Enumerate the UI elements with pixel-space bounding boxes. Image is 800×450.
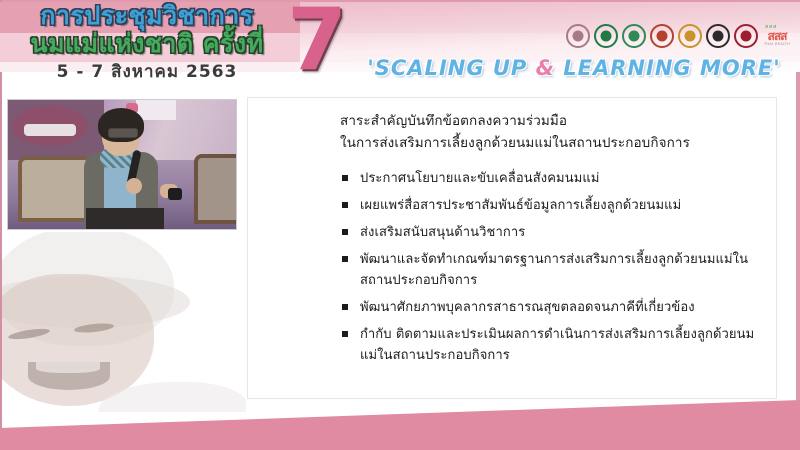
video-speaker-hand-left (126, 178, 142, 194)
logo-core (713, 31, 724, 42)
royal-crest-logo (678, 24, 702, 48)
bullet-square-icon (342, 175, 348, 181)
thaihealth-logo: สสส สสส THAI HEALTH (762, 23, 792, 49)
bullet-item: ประกาศนโยบายและขับเคลื่อนสังคมนมแม่ (340, 168, 760, 189)
bullet-square-icon (342, 304, 348, 310)
bullet-square-icon (342, 331, 348, 337)
video-speaker-clicker (168, 188, 182, 200)
video-chair-right (194, 154, 236, 224)
video-speaker-lap (86, 208, 164, 229)
thaihealth-logo-text: สสส (762, 30, 792, 42)
ministry-health-logo (594, 24, 618, 48)
bullet-item: กำกับ ติดตามและประเมินผลการดำเนินการส่งเ… (340, 324, 760, 366)
logo-core (601, 31, 612, 42)
presentation-slide: 7 การประชุมวิชาการ นมแม่แห่งชาติ ครั้งที… (0, 0, 800, 450)
content-heading-line1: สาระสำคัญบันทึกข้อตกลงความร่วมมือ (340, 110, 760, 132)
bullet-text: พัฒนาและจัดทำเกณฑ์มาตรฐานการส่งเสริมการเ… (360, 252, 748, 288)
thaihealth-logo-mark: สสส (765, 23, 777, 31)
conference-title-block: การประชุมวิชาการ นมแม่แห่งชาติ ครั้งที่ … (16, 2, 278, 83)
red-seal-logo (734, 24, 758, 48)
bullet-square-icon (342, 256, 348, 262)
conference-title-line2: นมแม่แห่งชาติ ครั้งที่ (16, 30, 278, 58)
thaihealth-logo-subtext: THAI HEALTH (762, 42, 792, 46)
video-backdrop-panel (136, 100, 176, 120)
video-chair-left (18, 156, 92, 222)
logo-core (573, 31, 584, 42)
bullet-square-icon (342, 202, 348, 208)
bullet-text: เผยแพร่สื่อสารประชาสัมพันธ์ข้อมูลการเลี้… (360, 198, 681, 213)
partner-logo-strip: สสส สสส THAI HEALTH (566, 20, 792, 52)
conference-tagline: 'SCALING UP & LEARNING MORE' (358, 56, 790, 80)
content-heading-line2: ในการส่งเสริมการเลี้ยงลูกด้วยนมแม่ในสถาน… (340, 132, 760, 154)
health-department-logo (622, 24, 646, 48)
watermark-teeth (36, 362, 100, 373)
bullet-text: พัฒนาศักยภาพบุคลากรสาธารณสุขตลอดจนภาคีที… (360, 300, 695, 315)
tagline-suffix: LEARNING MORE' (555, 56, 781, 80)
bullet-square-icon (342, 229, 348, 235)
logo-core (629, 31, 640, 42)
bullet-text: กำกับ ติดตามและประเมินผลการดำเนินการส่งเ… (360, 327, 754, 363)
bullet-item: ส่งเสริมสนับสนุนด้านวิชาการ (340, 222, 760, 243)
bullet-item: เผยแพร่สื่อสารประชาสัมพันธ์ข้อมูลการเลี้… (340, 195, 760, 216)
tagline-ampersand: & (536, 56, 555, 80)
conference-date: 5 - 7 สิงหาคม 2563 (16, 61, 278, 83)
bullet-item: พัฒนาศักยภาพบุคลากรสาธารณสุขตลอดจนภาคีที… (340, 297, 760, 318)
content-bullet-list: ประกาศนโยบายและขับเคลื่อนสังคมนมแม่ เผยแ… (340, 168, 760, 366)
bullet-text: ประกาศนโยบายและขับเคลื่อนสังคมนมแม่ (360, 171, 600, 186)
logo-core (741, 31, 752, 42)
tagline-prefix: 'SCALING UP (367, 56, 535, 80)
conference-title-line1: การประชุมวิชาการ (16, 2, 278, 29)
unicef-logo (706, 24, 730, 48)
child-photo-watermark (2, 232, 246, 412)
video-speaker-glasses (108, 128, 138, 138)
logo-core (685, 31, 696, 42)
bullet-item: พัฒนาและจัดทำเกณฑ์มาตรฐานการส่งเสริมการเ… (340, 249, 760, 291)
edition-number: 7 (276, 0, 356, 82)
bullet-text: ส่งเสริมสนับสนุนด้านวิชาการ (360, 225, 525, 240)
content-body: สาระสำคัญบันทึกข้อตกลงความร่วมมือ ในการส… (340, 110, 760, 372)
thai-government-logo (650, 24, 674, 48)
video-backdrop-teeth (24, 124, 76, 136)
royal-emblem-logo (566, 24, 590, 48)
logo-core (657, 31, 668, 42)
speaker-video-frame[interactable] (8, 100, 236, 229)
